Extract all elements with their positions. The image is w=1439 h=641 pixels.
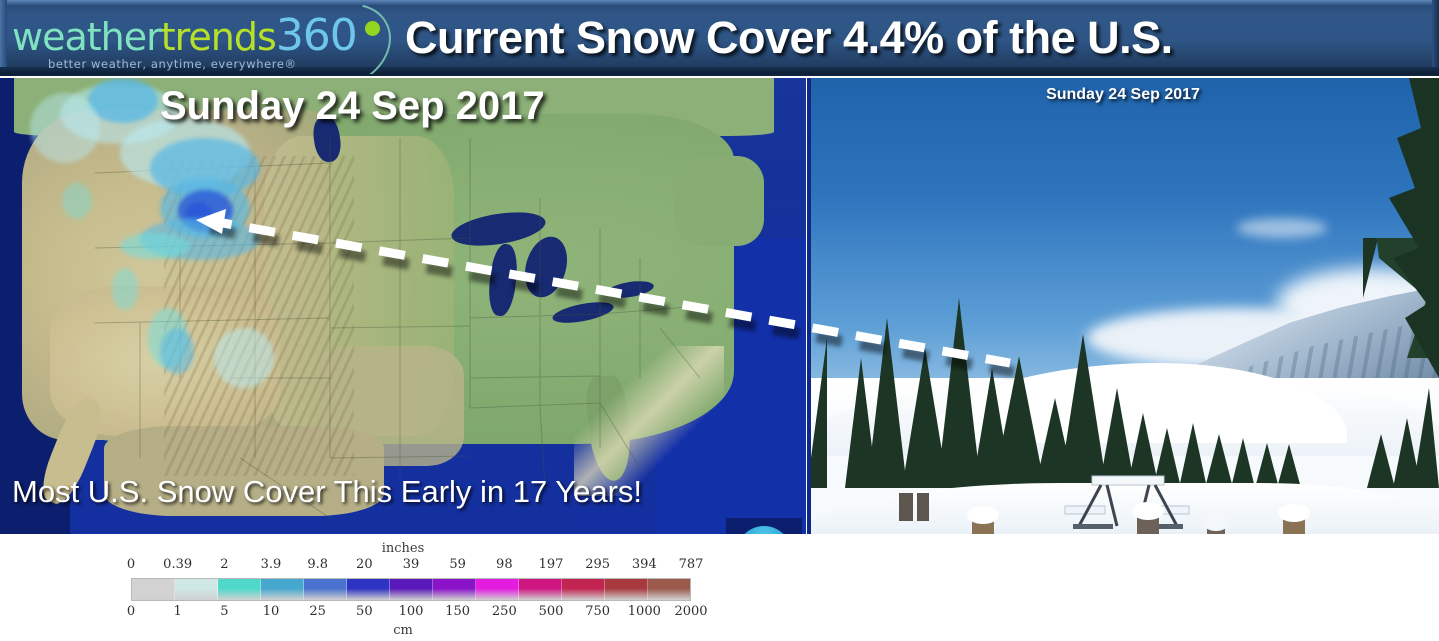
legend-unit-cm: cm bbox=[0, 623, 806, 638]
snow-blob bbox=[120, 233, 190, 259]
slide-root: weathertrends360 better weather, anytime… bbox=[0, 0, 1439, 641]
legend-tick-cm: 5 bbox=[220, 604, 228, 619]
legend-tick-cm: 500 bbox=[539, 604, 564, 619]
logo-tagline: better weather, anytime, everywhere® bbox=[48, 57, 297, 71]
weathertrends360-logo[interactable]: weathertrends360 better weather, anytime… bbox=[12, 10, 382, 70]
legend-segment bbox=[218, 579, 261, 600]
legend-tick-inches: 2 bbox=[220, 557, 228, 572]
legend-unit-inches: inches bbox=[0, 541, 806, 556]
legend-tick-inches: 295 bbox=[585, 557, 610, 572]
legend-segment bbox=[347, 579, 390, 600]
legend-segment bbox=[605, 579, 648, 600]
legend-tick-cm: 750 bbox=[585, 604, 610, 619]
legend-tick-inches: 3.9 bbox=[261, 557, 282, 572]
snow-blob bbox=[30, 93, 100, 163]
noaa-circle-icon bbox=[734, 526, 794, 534]
legend-segment bbox=[562, 579, 605, 600]
legend-color-bar bbox=[131, 578, 691, 601]
header-right-bevel bbox=[1432, 0, 1439, 74]
page-title: Current Snow Cover 4.4% of the U.S. bbox=[405, 9, 1415, 67]
snow-blob bbox=[160, 328, 194, 374]
legend-right-filler bbox=[806, 534, 1439, 641]
legend-tick-inches: 394 bbox=[632, 557, 657, 572]
legend-cm-ticks: 01510255010015025050075010002000 bbox=[0, 604, 806, 620]
legend-tick-cm: 250 bbox=[492, 604, 517, 619]
legend-tick-inches: 39 bbox=[403, 557, 420, 572]
legend-tick-cm: 100 bbox=[399, 604, 424, 619]
legend-tick-inches: 98 bbox=[496, 557, 513, 572]
legend-inches-ticks: 00.3923.99.820395998197295394787 bbox=[0, 557, 806, 573]
legend-tick-inches: 197 bbox=[539, 557, 564, 572]
map-date-label: Sunday 24 Sep 2017 bbox=[160, 84, 545, 129]
legend-tick-cm: 1000 bbox=[628, 604, 661, 619]
snow-blob bbox=[88, 78, 158, 123]
snow-cover-map[interactable]: NOAA Sunday 24 Sep 2017 Most U.S. Snow C… bbox=[0, 78, 806, 534]
legend-segment bbox=[390, 579, 433, 600]
photo-date-label: Sunday 24 Sep 2017 bbox=[807, 86, 1439, 104]
logo-dot-icon bbox=[365, 21, 380, 36]
legend-segment bbox=[519, 579, 562, 600]
legend-segment bbox=[261, 579, 304, 600]
legend-tick-cm: 10 bbox=[263, 604, 280, 619]
foreground-conifer bbox=[1309, 78, 1439, 378]
legend-tick-inches: 0.39 bbox=[163, 557, 192, 572]
noaa-logo: NOAA bbox=[726, 518, 802, 534]
legend-tick-cm: 25 bbox=[309, 604, 326, 619]
legend-tick-cm: 0 bbox=[127, 604, 135, 619]
header-bar: weathertrends360 better weather, anytime… bbox=[0, 0, 1439, 76]
legend-tick-inches: 20 bbox=[356, 557, 373, 572]
legend-segment bbox=[476, 579, 519, 600]
legend-segment bbox=[304, 579, 347, 600]
legend-segment bbox=[433, 579, 476, 600]
snow-blob bbox=[62, 183, 92, 219]
legend-segment bbox=[175, 579, 218, 600]
snow-blob bbox=[112, 268, 138, 310]
header-top-bevel bbox=[0, 0, 1439, 6]
photo-left-edge bbox=[807, 78, 811, 608]
map-headline: Most U.S. Snow Cover This Early in 17 Ye… bbox=[12, 474, 642, 510]
snow-depth-legend: inches 00.3923.99.820395998197295394787 … bbox=[0, 534, 806, 641]
legend-tick-inches: 787 bbox=[679, 557, 704, 572]
legend-tick-cm: 150 bbox=[445, 604, 470, 619]
logo-word-weather: weather bbox=[12, 15, 161, 59]
snow-photo[interactable]: Sunday 24 Sep 2017 Photo courtesy of Chr… bbox=[807, 78, 1439, 608]
legend-tick-cm: 1 bbox=[174, 604, 182, 619]
legend-segment bbox=[132, 579, 175, 600]
legend-segment bbox=[648, 579, 690, 600]
snow-blob bbox=[214, 328, 274, 388]
legend-tick-inches: 0 bbox=[127, 557, 135, 572]
legend-tick-cm: 2000 bbox=[674, 604, 707, 619]
logo-word-trends: trends bbox=[161, 15, 276, 59]
legend-tick-inches: 59 bbox=[449, 557, 466, 572]
legend-tick-inches: 9.8 bbox=[307, 557, 328, 572]
legend-tick-cm: 50 bbox=[356, 604, 373, 619]
header-left-bevel bbox=[0, 0, 7, 74]
